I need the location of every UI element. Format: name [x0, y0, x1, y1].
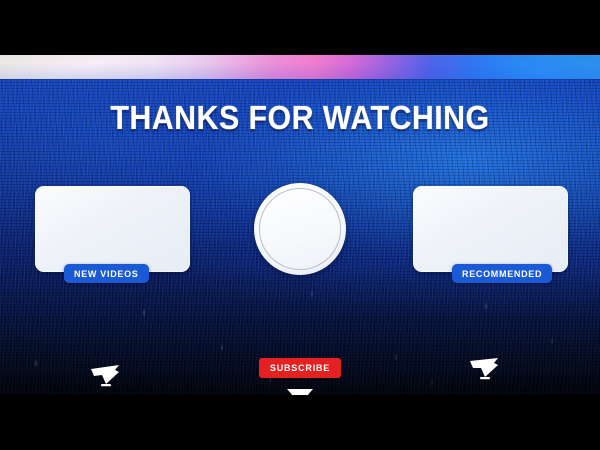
letterbox-bar-top — [0, 0, 600, 55]
cursor-arrow-icon — [88, 362, 122, 388]
outro-end-screen: THANKS FOR WATCHING NEW VIDEOS RECOMMEND… — [0, 0, 600, 450]
page-title: THANKS FOR WATCHING — [24, 99, 576, 137]
subscribe-button[interactable]: SUBSCRIBE — [259, 358, 341, 378]
end-screen-card-recommended[interactable] — [413, 186, 568, 272]
avatar-ring — [259, 188, 341, 270]
letterbox-bar-bottom — [0, 395, 600, 450]
end-screen-overlay: THANKS FOR WATCHING NEW VIDEOS RECOMMEND… — [0, 55, 600, 395]
avatar[interactable] — [254, 183, 346, 275]
badge-new-videos[interactable]: NEW VIDEOS — [64, 264, 149, 283]
end-screen-card-new-videos[interactable] — [35, 186, 190, 272]
badge-recommended[interactable]: RECOMMENDED — [452, 264, 552, 283]
cursor-arrow-icon — [468, 355, 502, 381]
